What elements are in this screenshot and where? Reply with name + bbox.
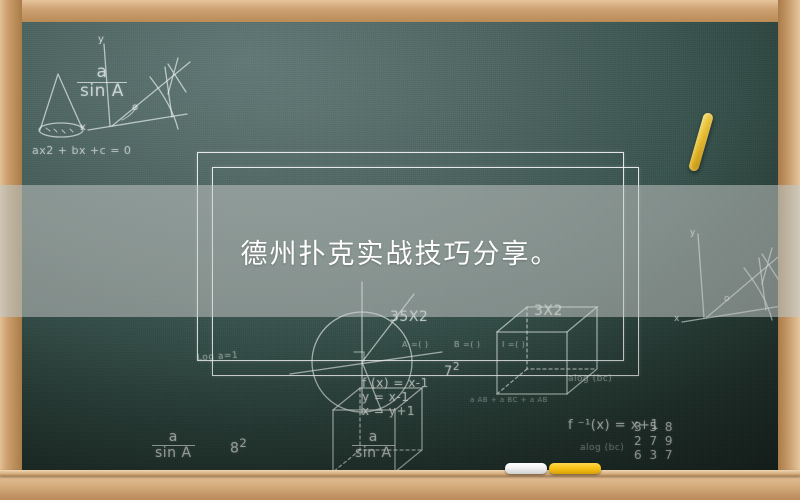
page-title: 德州扑克实战技巧分享。 <box>241 232 560 271</box>
chalk-tray-lip <box>0 470 800 476</box>
title-banner-overlay: 德州扑克实战技巧分享。 <box>0 185 800 317</box>
frame-top-rail <box>0 0 800 22</box>
chalkboard-banner: asin A y x o ax2 + bx +c = 0 f (x) = x-1… <box>0 0 800 500</box>
frame-bottom-ledge <box>0 473 800 500</box>
white-chalk-piece <box>505 463 547 474</box>
yellow-chalk-piece <box>549 463 601 474</box>
